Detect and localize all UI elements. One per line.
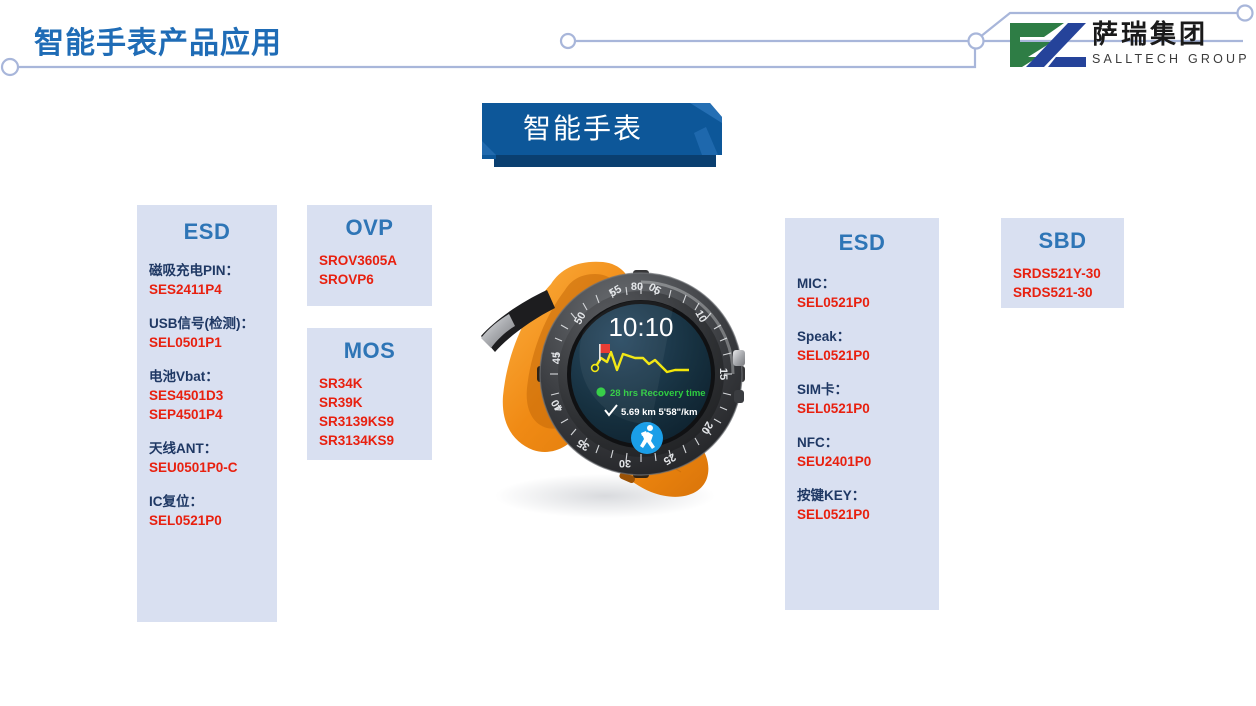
panel-body-mos: SR34K SR39K SR3139KS9 SR3134KS9 bbox=[307, 374, 432, 450]
panel-title-esd-right: ESD bbox=[785, 230, 939, 256]
spec-label: USB信号(检测)： bbox=[149, 314, 265, 333]
panel-esd-left: ESD 磁吸充电PIN： SES2411P4 USB信号(检测)： SEL050… bbox=[137, 205, 277, 622]
panel-ovp: OVP SROV3605A SROVP6 bbox=[307, 205, 432, 306]
panel-body-esd-left: 磁吸充电PIN： SES2411P4 USB信号(检测)： SEL0501P1 … bbox=[137, 261, 277, 530]
running-icon bbox=[631, 422, 663, 454]
spec-label: 磁吸充电PIN： bbox=[149, 261, 265, 280]
panel-title-sbd: SBD bbox=[1001, 228, 1124, 254]
spec-label: 天线ANT： bbox=[149, 439, 265, 458]
part-number: SEL0521P0 bbox=[797, 399, 927, 418]
spec-group: SIM卡： SEL0521P0 bbox=[797, 380, 927, 418]
part-number: SEU2401P0 bbox=[797, 452, 927, 471]
spec-group: SROV3605A SROVP6 bbox=[319, 251, 420, 289]
part-number: SR34K bbox=[319, 374, 420, 393]
part-number: SROVP6 bbox=[319, 270, 420, 289]
part-number: SEL0501P1 bbox=[149, 333, 265, 352]
logo-name-en: SALLTECH GROUP bbox=[1092, 51, 1244, 67]
part-number: SES2411P4 bbox=[149, 280, 265, 299]
svg-text:80: 80 bbox=[631, 281, 643, 293]
deco-node-mid bbox=[561, 34, 575, 48]
part-number: SRDS521Y-30 bbox=[1013, 264, 1112, 283]
deco-node-left bbox=[2, 59, 18, 75]
svg-text:45: 45 bbox=[551, 352, 563, 364]
panel-esd-right: ESD MIC： SEL0521P0 Speak： SEL0521P0 SIM卡… bbox=[785, 218, 939, 610]
spec-group: NFC： SEU2401P0 bbox=[797, 433, 927, 471]
part-number: SRDS521-30 bbox=[1013, 283, 1112, 302]
deco-node-junction bbox=[969, 34, 984, 49]
panel-title-mos: MOS bbox=[307, 338, 432, 364]
spec-label: MIC： bbox=[797, 274, 927, 293]
logo-name-cn: 萨瑞集团 bbox=[1092, 18, 1244, 50]
panel-body-esd-right: MIC： SEL0521P0 Speak： SEL0521P0 SIM卡： SE… bbox=[785, 274, 939, 524]
spec-label: IC复位： bbox=[149, 492, 265, 511]
part-number: SEL0521P0 bbox=[797, 505, 927, 524]
spec-label: 电池Vbat： bbox=[149, 367, 265, 386]
spec-label: SIM卡： bbox=[797, 380, 927, 399]
panel-body-ovp: SROV3605A SROVP6 bbox=[307, 251, 432, 289]
panel-title-esd-left: ESD bbox=[137, 219, 277, 245]
part-number: SEL0521P0 bbox=[149, 511, 265, 530]
spec-group: 天线ANT： SEU0501P0-C bbox=[149, 439, 265, 477]
banner-title: 智能手表 bbox=[478, 103, 688, 155]
page-header: 智能手表产品应用 萨瑞集团 SALLTECH GROUP bbox=[0, 0, 1256, 90]
part-number: SR3134KS9 bbox=[319, 431, 420, 450]
company-logo: 萨瑞集团 SALLTECH GROUP bbox=[1008, 18, 1244, 74]
spec-label: 按键KEY： bbox=[797, 486, 927, 505]
spec-group: MIC： SEL0521P0 bbox=[797, 274, 927, 312]
part-number: SR3139KS9 bbox=[319, 412, 420, 431]
svg-text:30: 30 bbox=[619, 457, 631, 469]
page-title: 智能手表产品应用 bbox=[34, 18, 282, 62]
panel-body-sbd: SRDS521Y-30 SRDS521-30 bbox=[1001, 264, 1124, 302]
smartwatch-product-image: 05 10 15 20 25 30 35 40 45 50 55 80 10:1… bbox=[455, 228, 745, 528]
logo-text-block: 萨瑞集团 SALLTECH GROUP bbox=[1092, 18, 1244, 67]
spec-group: IC复位： SEL0521P0 bbox=[149, 492, 265, 530]
spec-label: NFC： bbox=[797, 433, 927, 452]
section-banner: 智能手表 bbox=[478, 103, 722, 171]
panel-mos: MOS SR34K SR39K SR3139KS9 SR3134KS9 bbox=[307, 328, 432, 460]
spec-group: Speak： SEL0521P0 bbox=[797, 327, 927, 365]
panel-title-ovp: OVP bbox=[307, 215, 432, 241]
spec-group: SRDS521Y-30 SRDS521-30 bbox=[1013, 264, 1112, 302]
spec-group: USB信号(检测)： SEL0501P1 bbox=[149, 314, 265, 352]
spec-label: Speak： bbox=[797, 327, 927, 346]
part-number: SES4501D3 bbox=[149, 386, 265, 405]
panel-sbd: SBD SRDS521Y-30 SRDS521-30 bbox=[1001, 218, 1124, 308]
part-number: SEP4501P4 bbox=[149, 405, 265, 424]
salltech-logo-mark bbox=[1008, 21, 1086, 69]
spec-group: 磁吸充电PIN： SES2411P4 bbox=[149, 261, 265, 299]
part-number: SEL0521P0 bbox=[797, 346, 927, 365]
spec-group: 电池Vbat： SES4501D3 SEP4501P4 bbox=[149, 367, 265, 424]
part-number: SEU0501P0-C bbox=[149, 458, 265, 477]
part-number: SROV3605A bbox=[319, 251, 420, 270]
part-number: SR39K bbox=[319, 393, 420, 412]
spec-group: 按键KEY： SEL0521P0 bbox=[797, 486, 927, 524]
part-number: SEL0521P0 bbox=[797, 293, 927, 312]
svg-text:15: 15 bbox=[717, 368, 729, 380]
spec-group: SR34K SR39K SR3139KS9 SR3134KS9 bbox=[319, 374, 420, 450]
